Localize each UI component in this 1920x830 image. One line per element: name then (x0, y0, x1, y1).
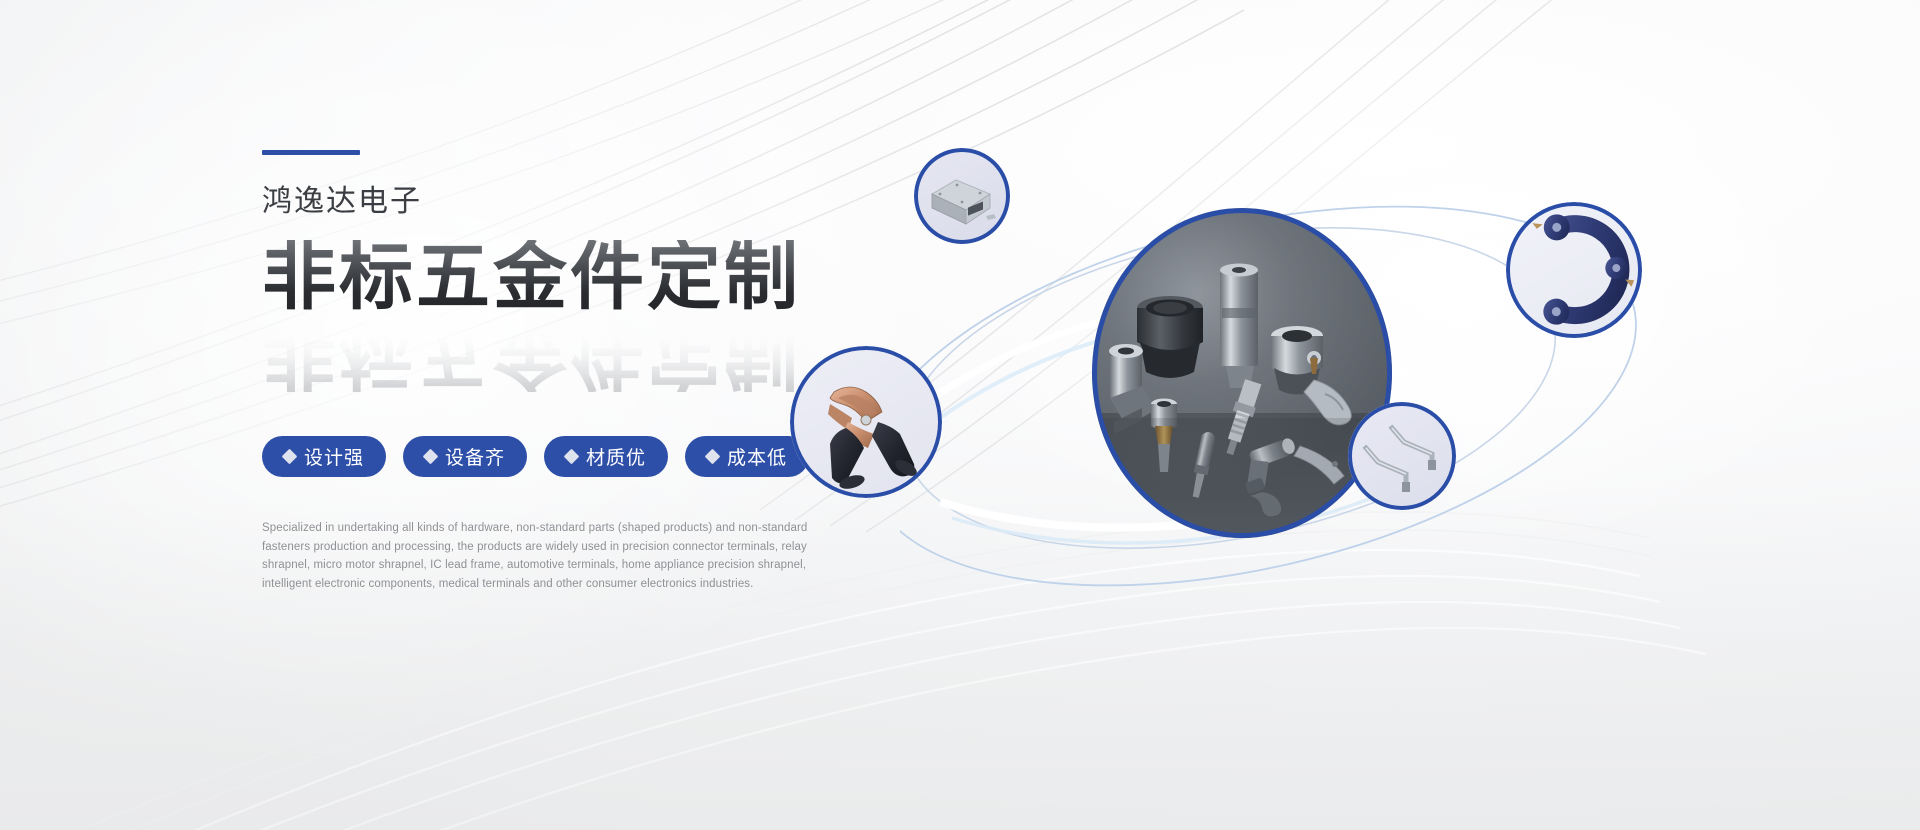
badge-label: 成本低 (727, 443, 787, 470)
main-parts-photo[interactable]: Assorted machined metal connector parts … (1092, 208, 1392, 538)
page-title: 非标五金件定制 (262, 240, 902, 314)
metal-enclosure-photo[interactable]: Stamped silver metal enclosure box (914, 148, 1010, 244)
diamond-icon (705, 449, 721, 465)
badge-material-quality[interactable]: 材质优 (544, 436, 668, 477)
company-name: 鸿逸达电子 (262, 185, 902, 218)
banner-stage: 鸿逸达电子 非标五金件定制 非标五金件定制 设计强 设备齐 材质优 成本低 (0, 0, 1920, 830)
bent-terminal-pins-photo[interactable]: Bent silver metal terminal pins (1348, 402, 1456, 510)
alligator-clip-photo[interactable]: Copper alligator clip with black rubber … (790, 346, 942, 498)
accent-rule (262, 150, 360, 155)
diamond-icon (282, 449, 298, 465)
page-title-reflection: 非标五金件定制 (262, 318, 801, 392)
diamond-icon (423, 449, 439, 465)
badge-label: 材质优 (586, 443, 646, 470)
company-description: Specialized in undertaking all kinds of … (262, 519, 832, 594)
badge-label: 设计强 (304, 443, 364, 470)
product-orbit-graphic: Stamped silver metal enclosure box (900, 150, 1700, 620)
diamond-icon (564, 449, 580, 465)
badge-equipment-complete[interactable]: 设备齐 (403, 436, 527, 477)
badge-label: 设备齐 (445, 443, 505, 470)
badge-design-strength[interactable]: 设计强 (262, 436, 386, 477)
retaining-ring-photo[interactable]: Navy blue C-shaped retaining clip ring (1506, 202, 1642, 338)
